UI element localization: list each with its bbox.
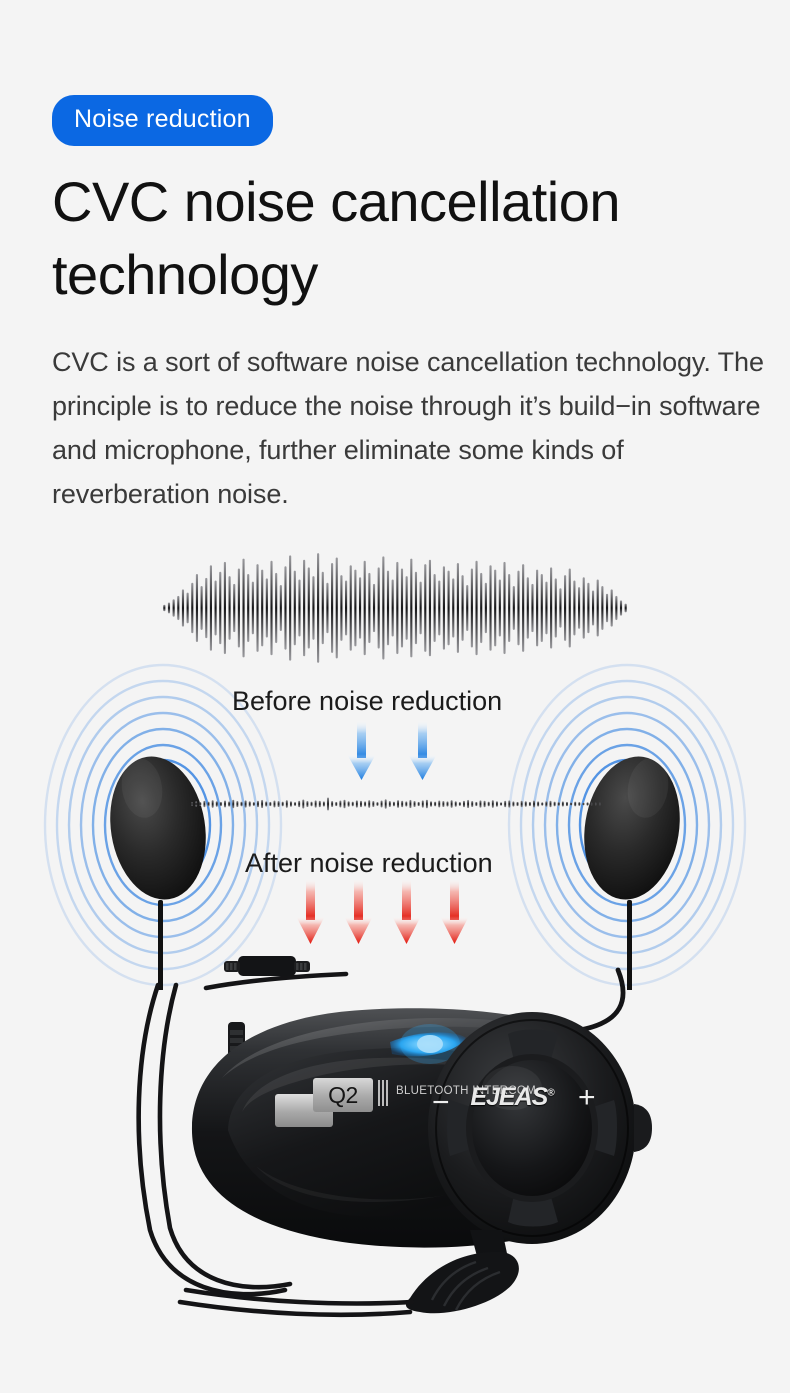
label-after-noise-reduction: After noise reduction	[245, 850, 493, 877]
section-badge: Noise reduction	[52, 95, 273, 146]
blue-arrows-group	[330, 720, 460, 782]
side-button[interactable]	[634, 1104, 652, 1152]
infographic-page: Noise reduction CVC noise cancellation t…	[0, 0, 790, 1393]
blue-arrows-svg	[330, 720, 460, 782]
upper-cable	[206, 974, 346, 988]
blue-arrow	[347, 720, 376, 780]
registered-mark: ®	[547, 1088, 553, 1099]
waveform-after	[190, 782, 602, 826]
volume-down-button[interactable]: −	[432, 1088, 450, 1118]
device-svg	[110, 930, 670, 1330]
waveform-before	[162, 552, 628, 664]
lower-cable	[180, 1290, 412, 1315]
blue-arrow	[408, 720, 437, 780]
inline-plug	[224, 956, 310, 976]
waveform-after-svg	[190, 782, 602, 826]
description-text: CVC is a sort of software noise cancella…	[52, 340, 782, 516]
volume-up-button[interactable]: +	[578, 1083, 596, 1113]
divider-bars-icon	[378, 1080, 389, 1106]
waveform-before-svg	[162, 552, 628, 664]
control-dial[interactable]	[428, 1012, 652, 1244]
label-before-noise-reduction: Before noise reduction	[232, 688, 502, 715]
intercom-device: Q2 BLUETOOTH INTERCOM EJEAS® − +	[110, 930, 670, 1330]
page-title: CVC noise cancellation technology	[52, 166, 752, 312]
brand-name: EJEAS	[470, 1083, 547, 1111]
right-cable	[580, 970, 623, 1030]
model-badge: Q2	[313, 1078, 373, 1112]
brand-logo: EJEAS®	[457, 1083, 567, 1112]
